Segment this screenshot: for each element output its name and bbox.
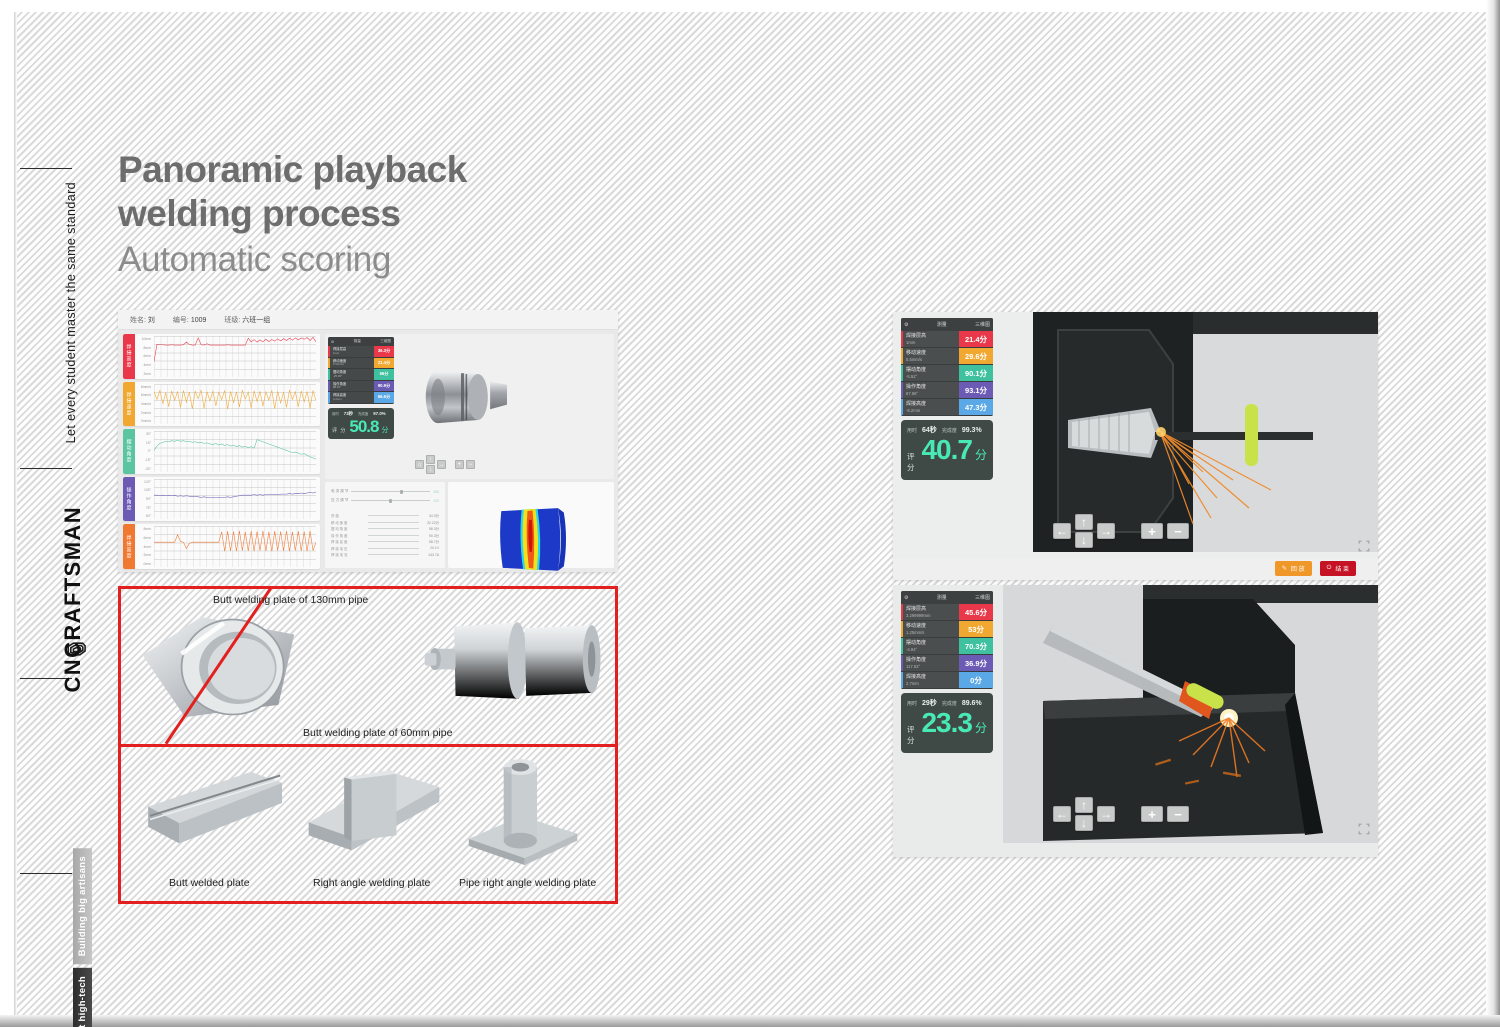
viewport-navigation-controls[interactable]: ⌂ ↑ ↓ → + − [415,455,475,474]
metric-value: 45.6分 [959,604,993,620]
chart-plot-2 [154,431,316,472]
metric-table-2: ⚙ 测量 三维图 焊接层高3.299999mm45.6分移动速度1.25mm/s… [901,591,993,689]
arrow-left-icon[interactable]: ← [1053,523,1071,539]
arrow-down-icon[interactable]: ↓ [1075,532,1093,548]
score-value: 23.3 [921,709,972,737]
metric-row: 焊接高度2.7mm0分 [901,672,993,689]
metric-value: 90.9分 [374,381,394,392]
metric-row: 焊接高度-8.2mm47.3分 [901,399,993,416]
caption-pipe-130mm: Butt welding plate of 130mm pipe [213,594,368,606]
metric-row: 操作角度87.58°93.1分 [901,382,993,399]
chart-tab-1[interactable]: 焊接速度 [123,382,135,427]
time-label: 用时 [332,411,339,416]
heatmap-viewport[interactable] [448,482,614,568]
chart-row-0[interactable]: 焊接高度10mm8mm6mm4mm2mm [123,334,320,379]
title-line-2: welding process [118,192,467,236]
metric-value: 70.3分 [959,638,993,654]
metric-value: 90.1分 [959,365,993,381]
caption-plate-0: Butt welded plate [169,877,250,889]
metric-value: 21.4分 [959,331,993,347]
chart-tab-3[interactable]: 操作角度 [123,477,135,522]
score-unit: 分 [381,425,388,435]
metric-row: 操作角度88.61°90.9分 [328,381,394,393]
subtitle: Automatic scoring [118,239,467,281]
title-line-1: Panoramic playback [118,148,467,192]
time-label: 用时 [907,427,917,434]
arrow-up-icon[interactable]: ↑ [1075,797,1093,813]
metric-name: 摆动角度-25.93° [330,369,374,380]
arrow-right-icon[interactable]: → [1097,523,1115,539]
score-unit: 分 [975,446,987,463]
metric-name: 操作角度117.53° [903,655,959,671]
student-class-field: 班级: 六班一组 [224,315,270,325]
chart-row-4[interactable]: 焊接高度8mm6mm4mm2mm0mm [123,524,320,569]
rail-divider [20,873,72,874]
parameter-chart-stack: 焊接高度10mm8mm6mm4mm2mm焊接速度8mm/s6mm/s4mm/s2… [118,330,323,572]
chart-plot-3 [154,479,316,520]
pencil-icon: ✎ [1282,565,1287,572]
parameter-controls: 电 流 调 节185压 力 调 节120 低 值34.3分移 动 速 度32.2… [325,482,445,568]
chart-tab-4[interactable]: 焊接高度 [123,524,135,569]
metric-name: 焊接高度-8.2mm [903,399,959,415]
pipe-samples-row [121,589,618,747]
metric-row: 焊接层高1mm36.3分 [328,346,394,358]
chart-yaxis-0: 10mm8mm6mm4mm2mm [135,334,152,379]
rate-label: 完成度 [942,700,957,707]
score-card: 用时 73秒 完成度 97.0% 评 分 50.8 分 [328,408,394,439]
chart-plot-0 [154,336,316,377]
rate-value: 99.3% [962,427,982,434]
pipe-weld-3d-render [415,358,507,436]
scoring-hud-2: ⚙ 测量 三维图 焊接层高3.299999mm45.6分移动速度1.25mm/s… [901,591,993,753]
metric-row: 焊接层高1mm21.4分 [901,331,993,348]
home-icon[interactable]: ⌂ [415,460,424,469]
end-button[interactable]: ⏻ 结 束 [1320,561,1356,576]
arrow-down-icon[interactable]: ↓ [426,465,435,474]
gear-icon: ⚙ [904,322,908,328]
metric-value: 29.6分 [959,348,993,364]
simulator-screenshot-2: ⚙ 测量 三维图 焊接层高3.299999mm45.6分移动速度1.25mm/s… [893,585,1378,857]
metric-name: 操作角度88.61° [330,381,374,392]
fullscreen-icon[interactable] [1358,540,1370,552]
simulator-screenshot-1: ⚙ 测量 三维图 焊接层高1mm21.4分移动速度5.5mm/s29.6分摆动角… [893,312,1378,580]
score-label: 评 分 [332,427,346,434]
zoom-in-icon[interactable]: + [1141,523,1163,539]
metric-name: 焊接层高1mm [903,331,959,347]
metric-name: 移动速度5.5mm/s [903,348,959,364]
zoom-out-icon[interactable]: − [466,460,475,469]
metric-name: 摆动角度-4.84° [903,638,959,654]
page-title: Panoramic playback welding process Autom… [118,148,467,281]
3d-viewport-stage: ⚙ 测量 三维图 焊接层高1mm36.3分移动速度6.5mm/s21.4分摆动角… [325,334,614,479]
pipe-right-angle-welding-plate-render [453,751,593,869]
zoom-out-icon[interactable]: − [1167,523,1189,539]
metric-row: 焊接层高3.299999mm45.6分 [901,604,993,621]
metric-value: 93.1分 [959,382,993,398]
metric-name: 操作角度87.58° [903,382,959,398]
score-card-2: 用时 29秒 完成度 89.6% 评 分 23.3 分 [901,693,993,753]
stat-row: 焊 接 高 度58.7分 [331,539,439,544]
time-label: 用时 [907,700,917,707]
analytics-software-screenshot: 姓名: 刘 编号: 1009 班级: 六班一组 焊接高度10mm8mm6mm4m… [118,310,618,572]
zoom-in-icon[interactable]: + [1141,806,1163,822]
metric-value: 36.9分 [959,655,993,671]
power-icon: ⏻ [1327,565,1332,572]
page-edge-bottom [0,1015,1500,1027]
page-edge-right [1486,0,1500,1027]
metric-table-header-1: ⚙ 测量 三维图 [901,318,993,331]
scoring-sidebar: ⚙ 测量 三维图 焊接层高1mm36.3分移动速度6.5mm/s21.4分摆动角… [325,334,397,479]
score-value: 50.8 [349,418,378,435]
stat-row: 焊 接 电 压20.1V [331,546,439,551]
gear-icon: ⚙ [904,595,908,601]
chart-tab-0[interactable]: 焊接高度 [123,334,135,379]
rail-brand: CNCRAFTSMAN [60,506,86,693]
metric-value: 0分 [959,672,993,688]
metric-row: 移动速度1.25mm/s53分 [901,621,993,638]
zoom-out-icon[interactable]: − [1167,806,1189,822]
metric-row: 摆动角度-5.52°90.1分 [901,365,993,382]
stat-row: 移 动 速 度32.22分 [331,520,439,525]
stat-row: 焊 接 电 流143.7A [331,552,439,557]
score-label: 评 分 [907,451,918,473]
rail-divider [20,168,72,169]
score-card-1: 用时 64秒 完成度 99.3% 评 分 40.7 分 [901,420,993,480]
playback-button[interactable]: ✎ 回 放 [1275,561,1312,576]
arrow-right-icon[interactable]: → [437,460,446,469]
gear-icon: ⚙ [331,340,334,344]
score-unit: 分 [975,719,987,736]
score-label: 评 分 [907,724,918,746]
camera-controls-2[interactable]: ← ↑ ↓ → + − [1053,797,1189,831]
metric-table-header-2: ⚙ 测量 三维图 [901,591,993,604]
rail-badges: Building big artisans Smart high-tech [73,848,99,1027]
metric-table: ⚙ 测量 三维图 焊接层高1mm36.3分移动速度6.5mm/s21.4分摆动角… [328,337,394,404]
weld-seam-heatmap-render [470,498,598,572]
right-angle-welding-plate-render [299,757,449,869]
metric-name: 摆动角度-5.52° [903,365,959,381]
arrow-right-icon[interactable]: → [1097,806,1115,822]
camera-controls-1[interactable]: ← ↑ ↓ → + − [1053,514,1189,548]
badge-building-big-artisans: Building big artisans [73,848,92,964]
arrow-up-icon[interactable]: ↑ [1075,514,1093,530]
butt-welded-plate-render [141,759,291,869]
rail-divider [20,468,72,469]
metric-row: 摆动角度-25.93°56分 [328,369,394,381]
metric-name: 焊接层高1mm [330,346,374,357]
pipe-60mm-render [407,601,613,723]
stat-row: 摆 动 角 度58.3分 [331,526,439,531]
metric-value: 36.3分 [374,346,394,357]
metric-value: 21.4分 [374,358,394,369]
parameter-slider[interactable]: 电 流 调 节185 [331,489,439,494]
book-spine [14,12,17,1015]
metric-value: 53分 [959,621,993,637]
metric-row: 摆动角度-4.84°70.3分 [901,638,993,655]
horizontal-divider [121,744,615,747]
rate-value: 97.0% [373,411,385,416]
student-id-field: 编号: 1009 [173,315,206,325]
page-edge-top [0,0,1500,12]
arrow-left-icon[interactable]: ← [1053,806,1071,822]
caption-plate-1: Right angle welding plate [313,877,430,889]
student-info-bar: 姓名: 刘 编号: 1009 班级: 六班一组 [118,310,618,330]
3d-pipe-model[interactable]: ⌂ ↑ ↓ → + − [397,334,614,479]
metric-name: 移动速度1.25mm/s [903,621,959,637]
metric-row: 移动速度5.5mm/s29.6分 [901,348,993,365]
fullscreen-icon[interactable] [1358,823,1370,835]
chart-plot-1 [154,384,316,425]
sim-action-buttons-1[interactable]: ✎ 回 放 ⏻ 结 束 [1275,561,1356,576]
chart-row-3[interactable]: 操作角度120°105°90°75°60° [123,477,320,522]
badge-smart-high-tech: Smart high-tech [73,968,92,1027]
zoom-in-icon[interactable]: + [455,460,464,469]
stat-row: 低 值34.3分 [331,513,439,518]
workpiece-samples-box: Butt welding plate of 130mm pipe Butt we… [118,586,618,904]
metric-name: 焊接高度2.7mm [903,672,959,688]
arrow-down-icon[interactable]: ↓ [1075,815,1093,831]
rate-label: 完成度 [942,427,957,434]
metric-name: 移动速度6.5mm/s [330,358,374,369]
chart-row-1[interactable]: 焊接速度8mm/s6mm/s4mm/s2mm/s0mm/s [123,382,320,427]
metric-table-1: ⚙ 测量 三维图 焊接层高1mm21.4分移动速度5.5mm/s29.6分摆动角… [901,318,993,416]
chart-yaxis-1: 8mm/s6mm/s4mm/s2mm/s0mm/s [135,382,152,427]
score-value: 40.7 [921,436,972,464]
parameter-slider[interactable]: 压 力 调 节120 [331,498,439,503]
left-rail: Let every student master the same standa… [20,168,100,958]
caption-plate-2: Pipe right angle welding plate [459,877,596,889]
chart-yaxis-3: 120°105°90°75°60° [135,477,152,522]
metric-name: 焊接层高3.299999mm [903,604,959,620]
chart-plot-4 [154,526,316,567]
metric-value: 66.6分 [374,392,394,403]
chart-tab-2[interactable]: 摆动角度 [123,429,135,474]
chart-row-2[interactable]: 摆动角度30°15°0°-15°-30° [123,429,320,474]
chart-yaxis-4: 8mm6mm4mm2mm0mm [135,524,152,569]
student-name-field: 姓名: 刘 [130,315,155,325]
rate-label: 完成度 [358,411,368,416]
chart-yaxis-2: 30°15°0°-15°-30° [135,429,152,474]
metric-row: 操作角度117.53°36.9分 [901,655,993,672]
metric-row: 移动速度6.5mm/s21.4分 [328,358,394,370]
stat-row: 操 作 角 度90.3分 [331,533,439,538]
metric-value: 47.3分 [959,399,993,415]
rail-tagline: Let every student master the same standa… [64,182,78,443]
metric-table-header: ⚙ 测量 三维图 [328,337,394,346]
metric-name: 焊接高度3.2mm [330,392,374,403]
caption-pipe-60mm: Butt welding plate of 60mm pipe [303,727,452,739]
rate-value: 89.6% [962,700,982,707]
time-value: 73秒 [344,411,353,417]
scoring-hud-1: ⚙ 测量 三维图 焊接层高1mm21.4分移动速度5.5mm/s29.6分摆动角… [901,318,993,480]
metric-row: 焊接高度3.2mm66.6分 [328,392,394,404]
arrow-up-icon[interactable]: ↑ [426,455,435,464]
metric-value: 56分 [374,369,394,380]
